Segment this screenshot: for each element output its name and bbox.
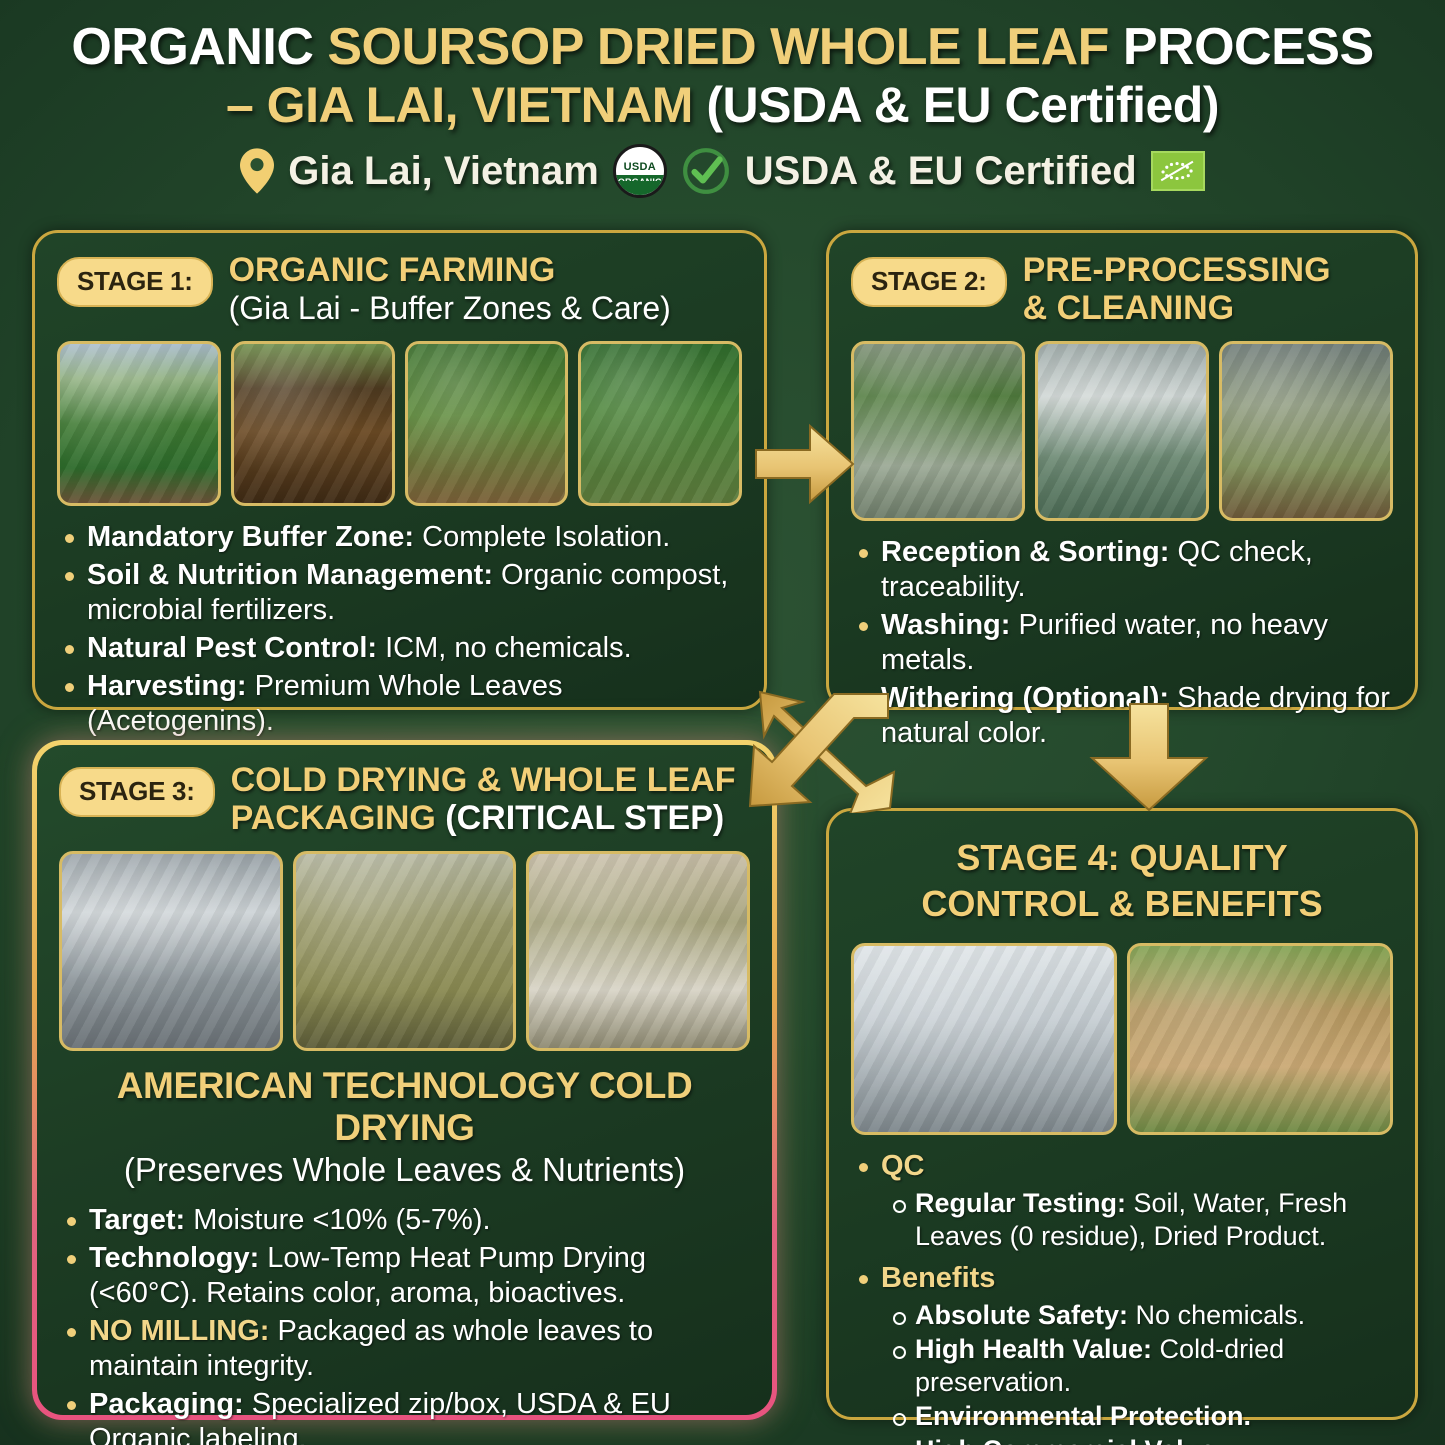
stage-3-title-gold: PACKAGING (231, 799, 446, 837)
group-heading-qc: QC (881, 1150, 925, 1182)
stage-1-photo-strip (57, 341, 742, 506)
bullet-label: Environmental Protection. (915, 1401, 1251, 1431)
list-item: Harvesting: Premium Whole Leaves (Acetog… (57, 669, 742, 739)
bullet-label: Target: (89, 1204, 185, 1236)
arrow-stage2-to-stage3 (738, 688, 898, 813)
list-item: NO MILLING: Packaged as whole leaves to … (59, 1314, 750, 1384)
photo-farmers-harvesting-leaves (578, 341, 742, 506)
list-item: Technology: Low-Temp Heat Pump Drying (<… (59, 1241, 750, 1311)
photo-shade-drying-racks (1219, 341, 1393, 521)
location-pin-icon (240, 148, 274, 194)
photo-organic-farm-field (57, 341, 221, 506)
list-item: QC (851, 1149, 1393, 1184)
stage-4-qc-sublist: Regular Testing: Soil, Water, Fresh Leav… (887, 1187, 1393, 1253)
list-item: Mandatory Buffer Zone: Complete Isolatio… (57, 520, 742, 555)
stage-3-title-white: (CRITICAL STEP) (445, 799, 724, 837)
green-check-circle-icon (681, 146, 731, 196)
bullet-label: Harvesting: (87, 670, 247, 702)
stage-1-bullet-list: Mandatory Buffer Zone: Complete Isolatio… (57, 520, 742, 739)
certified-label: USDA & EU Certified (745, 149, 1137, 194)
stage-4-photo-strip (851, 943, 1393, 1135)
header-badge-row: Gia Lai, Vietnam USDA ORGANIC USDA & EU … (0, 144, 1445, 198)
arrow-stage1-to-stage2 (752, 418, 857, 510)
stage-3-big-title: AMERICAN TECHNOLOGY COLD DRYING (59, 1065, 750, 1149)
stage-2-header: STAGE 2: PRE-PROCESSING & CLEANING (851, 251, 1393, 327)
bullet-label: Absolute Safety: (915, 1300, 1128, 1330)
stage-3-big-subtitle: (Preserves Whole Leaves & Nutrients) (59, 1151, 750, 1189)
list-item: Absolute Safety: No chemicals. (887, 1299, 1393, 1332)
stage-4-bullet-list: QC (851, 1149, 1393, 1184)
photo-leaf-reception-sorting (851, 341, 1025, 521)
list-item: High Health Value: Cold-dried preservati… (887, 1333, 1393, 1399)
list-item: Environmental Protection. (887, 1400, 1393, 1433)
list-item: High Commercial Value. (887, 1434, 1393, 1445)
list-item: Washing: Purified water, no heavy metals… (851, 608, 1393, 678)
stage-2-title-line-2: & CLEANING (1023, 289, 1393, 327)
bullet-label: High Health Value: (915, 1334, 1152, 1364)
photo-pest-traps (405, 341, 569, 506)
title-gold: SOURSOP DRIED WHOLE LEAF (327, 18, 1109, 76)
stage-4-benefits-sublist: Absolute Safety: No chemicals. High Heal… (887, 1299, 1393, 1445)
list-item: Soil & Nutrition Management: Organic com… (57, 558, 742, 628)
infographic-canvas: ORGANIC SOURSOP DRIED WHOLE LEAF PROCESS… (0, 0, 1445, 1445)
photo-washing-leaves-running-water (1035, 341, 1209, 521)
stage-4-title-line-2: CONTROL & BENEFITS (851, 883, 1393, 929)
title-white-b: PROCESS (1109, 18, 1374, 76)
list-item: Reception & Sorting: QC check, traceabil… (851, 535, 1393, 605)
list-item: Benefits (851, 1261, 1393, 1296)
stage-2-chip: STAGE 2: (851, 257, 1007, 307)
photo-packaging-station (526, 851, 750, 1051)
usda-seal-top-text: USDA (624, 161, 656, 173)
panel-stage-1[interactable]: STAGE 1: ORGANIC FARMING (Gia Lai - Buff… (32, 230, 767, 710)
stage-3-title-line-2: PACKAGING (CRITICAL STEP) (231, 799, 750, 837)
photo-lab-quality-testing (851, 943, 1117, 1135)
stage-1-chip: STAGE 1: (57, 257, 213, 307)
group-heading-benefits: Benefits (881, 1262, 995, 1294)
title-white-a: ORGANIC (71, 18, 327, 76)
photo-cold-drying-machines (59, 851, 283, 1051)
bullet-label: Mandatory Buffer Zone: (87, 521, 414, 553)
panel-stage-2[interactable]: STAGE 2: PRE-PROCESSING & CLEANING Recep… (826, 230, 1418, 710)
list-item: Natural Pest Control: ICM, no chemicals. (57, 631, 742, 666)
panel-stage-3[interactable]: STAGE 3: COLD DRYING & WHOLE LEAF PACKAG… (32, 740, 777, 1420)
stage-3-chip: STAGE 3: (59, 767, 215, 817)
stage-1-title: ORGANIC FARMING (229, 251, 742, 289)
bullet-text: ICM, no chemicals. (377, 632, 632, 664)
bullet-label: Soil & Nutrition Management: (87, 559, 493, 591)
bullet-label: Regular Testing: (915, 1188, 1126, 1218)
bullet-text: Moisture <10% (5-7%). (185, 1204, 490, 1236)
bullet-label: Packaging: (89, 1388, 244, 1420)
subtitle-white: (USDA & EU Certified) (693, 77, 1219, 133)
bullet-label: Technology: (89, 1242, 259, 1274)
photo-drying-trays-leaves (293, 851, 517, 1051)
page-title-line-2: – GIA LAI, VIETNAM (USDA & EU Certified) (0, 76, 1445, 134)
stage-2-title-line-1: PRE-PROCESSING (1023, 251, 1393, 289)
list-item: Target: Moisture <10% (5-7%). (59, 1203, 750, 1238)
stage-2-photo-strip (851, 341, 1393, 521)
panel-stage-4[interactable]: STAGE 4: QUALITY CONTROL & BENEFITS QC R… (826, 808, 1418, 1420)
bullet-label: NO MILLING: (89, 1315, 269, 1347)
bullet-label: High Commercial Value. (915, 1435, 1223, 1445)
photo-compost-pile (231, 341, 395, 506)
stage-3-header: STAGE 3: COLD DRYING & WHOLE LEAF PACKAG… (59, 761, 750, 837)
usda-organic-seal-icon: USDA ORGANIC (613, 144, 667, 198)
bullet-text: No chemicals. (1128, 1300, 1305, 1330)
list-item: Packaging: Specialized zip/box, USDA & E… (59, 1387, 750, 1445)
bullet-label: Natural Pest Control: (87, 632, 377, 664)
stage-4-benefits-list: Benefits (851, 1261, 1393, 1296)
subtitle-gold: – GIA LAI, VIETNAM (226, 77, 693, 133)
stage-1-header: STAGE 1: ORGANIC FARMING (Gia Lai - Buff… (57, 251, 742, 327)
stage-3-photo-strip (59, 851, 750, 1051)
photo-packaged-dried-leaves (1127, 943, 1393, 1135)
header: ORGANIC SOURSOP DRIED WHOLE LEAF PROCESS… (0, 18, 1445, 198)
bullet-label: Washing: (881, 609, 1010, 641)
arrow-stage2-to-stage4 (1086, 700, 1212, 814)
page-title-line-1: ORGANIC SOURSOP DRIED WHOLE LEAF PROCESS (0, 18, 1445, 76)
list-item: Regular Testing: Soil, Water, Fresh Leav… (887, 1187, 1393, 1253)
stage-3-bullet-list: Target: Moisture <10% (5-7%). Technology… (59, 1203, 750, 1445)
stage-3-title-line-1: COLD DRYING & WHOLE LEAF (231, 761, 750, 799)
stage-1-subtitle: (Gia Lai - Buffer Zones & Care) (229, 289, 742, 327)
bullet-text: Complete Isolation. (414, 521, 670, 553)
stage-4-title-line-1: STAGE 4: QUALITY (851, 829, 1393, 883)
bullet-label: Reception & Sorting: (881, 536, 1169, 568)
location-label: Gia Lai, Vietnam (288, 149, 599, 194)
eu-organic-leaf-icon (1151, 151, 1205, 191)
